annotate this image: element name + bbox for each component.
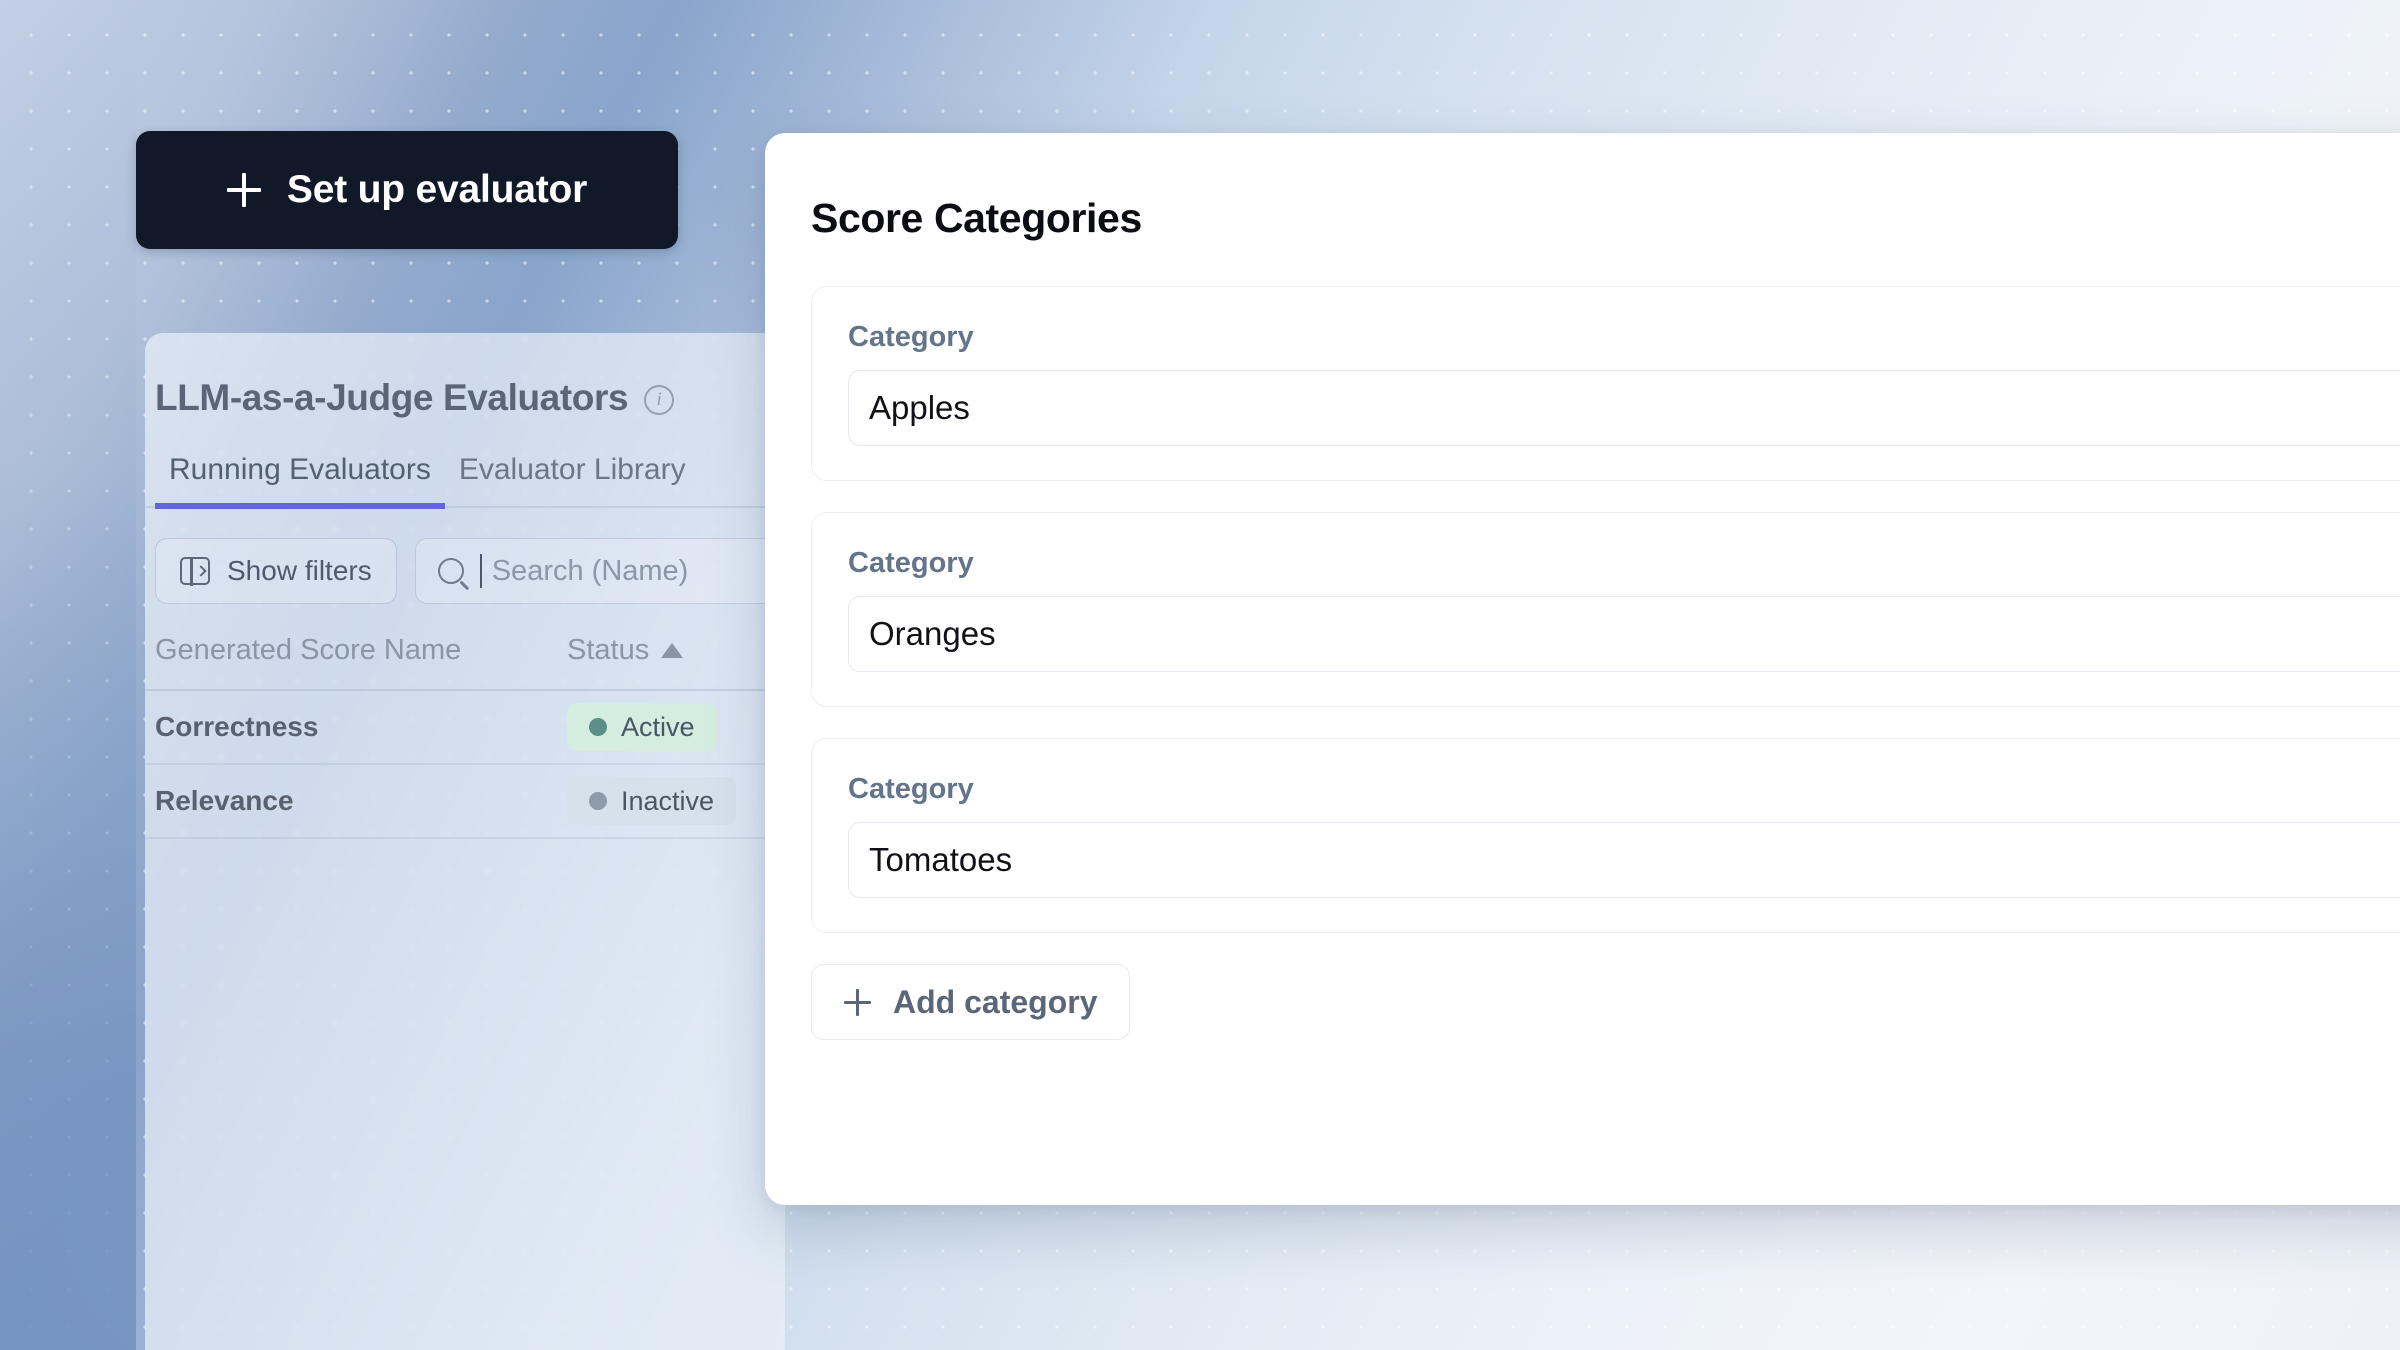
- add-category-label: Add category: [893, 984, 1097, 1021]
- setup-evaluator-button[interactable]: Set up evaluator: [136, 131, 678, 249]
- category-input[interactable]: [848, 822, 2400, 898]
- category-label: Category: [848, 547, 2400, 580]
- setup-evaluator-label: Set up evaluator: [287, 168, 587, 212]
- triangle-up-icon: [661, 643, 683, 658]
- info-icon[interactable]: i: [644, 385, 674, 415]
- categories-list: Category Category Category: [765, 242, 2400, 933]
- status-badge: Inactive: [567, 777, 736, 825]
- filter-toolbar: Show filters Search (Name): [145, 508, 785, 604]
- page-title: Score Categories: [765, 133, 2400, 242]
- left-gradient-wash: [0, 0, 136, 1350]
- plus-icon: [227, 173, 261, 207]
- category-card: Category: [811, 286, 2400, 481]
- tab-evaluator-library[interactable]: Evaluator Library: [445, 453, 700, 509]
- column-header-score-name[interactable]: Generated Score Name: [155, 634, 567, 667]
- llm-judge-evaluators-panel: LLM-as-a-Judge Evaluators i Running Eval…: [145, 333, 785, 1350]
- category-card: Category: [811, 512, 2400, 707]
- row-score-name: Correctness: [155, 711, 318, 742]
- table-row[interactable]: Relevance Inactive: [145, 765, 785, 839]
- panel-title: LLM-as-a-Judge Evaluators: [155, 377, 628, 419]
- status-badge: Active: [567, 703, 717, 751]
- status-badge-label: Active: [621, 712, 695, 743]
- panel-left-expand-icon: [180, 557, 210, 585]
- evaluators-table: Generated Score Name Status Correctness: [145, 634, 785, 839]
- category-card: Category: [811, 738, 2400, 933]
- show-filters-button[interactable]: Show filters: [155, 538, 397, 604]
- panel-tabs: Running Evaluators Evaluator Library: [145, 453, 785, 508]
- category-input[interactable]: [848, 370, 2400, 446]
- status-dot-icon: [589, 792, 607, 810]
- app-root: Set up evaluator LLM-as-a-Judge Evaluato…: [0, 0, 2400, 1350]
- column-header-status[interactable]: Status: [567, 634, 785, 667]
- column-header-status-label: Status: [567, 634, 649, 667]
- tab-running-evaluators[interactable]: Running Evaluators: [155, 453, 445, 509]
- row-score-name: Relevance: [155, 785, 294, 816]
- search-icon: [438, 558, 464, 584]
- category-label: Category: [848, 321, 2400, 354]
- panel-heading-row: LLM-as-a-Judge Evaluators i: [145, 333, 785, 419]
- status-badge-label: Inactive: [621, 786, 714, 817]
- status-dot-icon: [589, 718, 607, 736]
- score-categories-modal: Score Categories Category Category Categ…: [765, 133, 2400, 1205]
- text-caret: [480, 554, 482, 588]
- category-input[interactable]: [848, 596, 2400, 672]
- category-label: Category: [848, 773, 2400, 806]
- search-input[interactable]: Search (Name): [415, 538, 785, 604]
- table-row[interactable]: Correctness Active: [145, 691, 785, 765]
- add-category-button[interactable]: Add category: [811, 964, 1130, 1040]
- table-header-row: Generated Score Name Status: [145, 634, 785, 691]
- search-placeholder: Search (Name): [492, 555, 689, 588]
- show-filters-label: Show filters: [227, 555, 372, 587]
- plus-icon: [844, 989, 871, 1016]
- column-header-score-name-label: Generated Score Name: [155, 634, 461, 666]
